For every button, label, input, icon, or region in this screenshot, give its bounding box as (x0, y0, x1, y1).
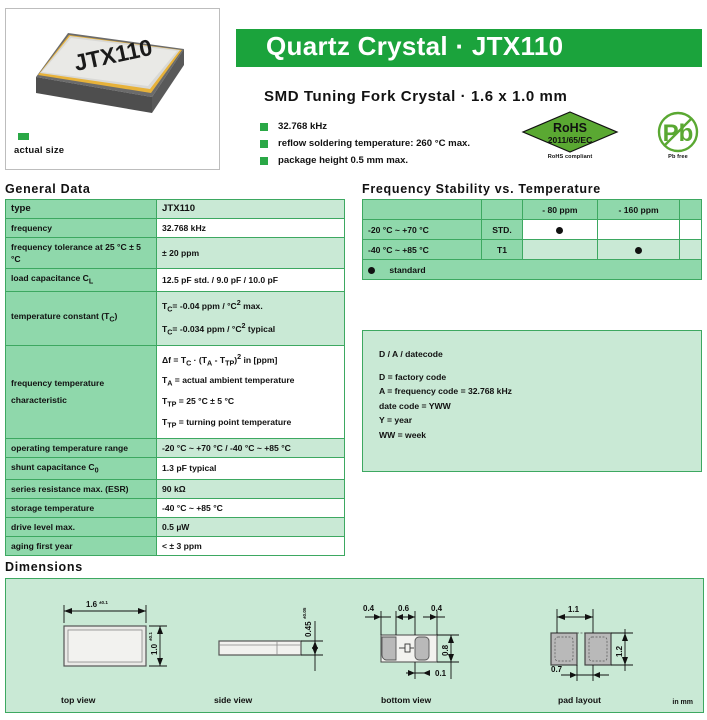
table-row: standard (363, 260, 702, 280)
filled-dot-icon (556, 227, 563, 234)
rohs-caption: RoHS compliant (520, 154, 620, 160)
dimensions-panel: 1.6 ±0.1 1.0 ±0.1 top view 0.45 ±0.05 si… (5, 578, 704, 713)
row-label: shunt capacitance C0 (6, 457, 157, 480)
bottom-pad-right: 0.4 (431, 604, 443, 613)
bullet-square-icon (260, 123, 268, 131)
top-view-height: 1.0 (150, 643, 159, 655)
actual-size-swatch (18, 133, 29, 140)
option-mark (523, 240, 598, 260)
marking-line: Y = year (379, 413, 701, 428)
bullet-square-icon (260, 157, 268, 165)
pb-free-caption: Pb free (655, 154, 701, 160)
column-header: - 160 ppm (597, 200, 680, 220)
table-row: temperature constant (TC) TC= -0.04 ppm … (6, 291, 345, 345)
option-mark (597, 240, 680, 260)
actual-size-caption: actual size (14, 145, 64, 156)
marking-code-box: D / A / datecode D = factory code A = fr… (362, 330, 702, 472)
row-label: load capacitance CL (6, 269, 157, 292)
table-row: frequency 32.768 kHz (6, 219, 345, 238)
table-row: frequency temperature characteristic Δf … (6, 345, 345, 438)
option-mark (597, 220, 680, 240)
header-blank-grade (482, 200, 523, 220)
row-value: 90 kΩ (157, 480, 345, 499)
table-row: -20 °C ~ +70 °C STD. (363, 220, 702, 240)
rohs-directive-text: 2011/65/EC (548, 135, 592, 145)
table-row: -40 °C ~ +85 °C T1 (363, 240, 702, 260)
general-data-table: type JTX110 frequency 32.768 kHz frequen… (5, 199, 345, 556)
marking-line: A = frequency code = 32.768 kHz (379, 384, 701, 399)
header-blank (363, 200, 482, 220)
feature-text: reflow soldering temperature: 260 °C max… (278, 138, 470, 149)
row-value: 0.5 µW (157, 518, 345, 537)
rohs-diamond-icon: RoHS 2011/65/EC (520, 110, 620, 154)
feature-list: 32.768 kHz reflow soldering temperature:… (260, 120, 520, 171)
row-label: series resistance max. (ESR) (6, 480, 157, 499)
bullet-square-icon (260, 140, 268, 148)
rohs-logo: RoHS 2011/65/EC RoHS compliant (520, 110, 620, 166)
table-row: drive level max. 0.5 µW (6, 518, 345, 537)
general-data-heading: General Data (5, 182, 91, 196)
temp-range: -20 °C ~ +70 °C (363, 220, 482, 240)
row-label: storage temperature (6, 499, 157, 518)
product-photo-panel: JTX110 actual size (5, 8, 220, 170)
top-view-width: 1.6 (86, 600, 98, 609)
table-row: frequency tolerance at 25 °C ± 5 °C ± 20… (6, 238, 345, 269)
table-row: shunt capacitance C0 1.3 pF typical (6, 457, 345, 480)
view-caption: bottom view (381, 695, 431, 705)
row-value: -20 °C ~ +70 °C / -40 °C ~ +85 °C (157, 438, 345, 457)
row-label: frequency temperature characteristic (6, 345, 157, 438)
datasheet-page: JTX110 actual size Quartz Crystal · JTX1… (0, 0, 707, 720)
pad-land-width: 0.7 (551, 665, 563, 674)
table-row: storage temperature -40 °C ~ +85 °C (6, 499, 345, 518)
side-view-thickness: 0.45 (304, 621, 313, 637)
marking-pattern: D / A / datecode (379, 347, 701, 362)
row-value: JTX110 (157, 200, 345, 219)
temp-range: -40 °C ~ +85 °C (363, 240, 482, 260)
crystal-package-image: JTX110 (24, 19, 200, 123)
top-view-drawing: 1.6 ±0.1 1.0 ±0.1 (34, 593, 184, 688)
legend-row: standard (363, 260, 702, 280)
row-value: -40 °C ~ +85 °C (157, 499, 345, 518)
pad-pitch: 1.1 (568, 605, 580, 614)
row-value: 32.768 kHz (157, 219, 345, 238)
stability-table: - 80 ppm - 160 ppm -20 °C ~ +70 °C STD. … (362, 199, 702, 280)
pb-free-icon: Pb (655, 110, 701, 154)
column-header (680, 200, 702, 220)
top-view-height-tol: ±0.1 (148, 632, 153, 641)
marking-line: D = factory code (379, 370, 701, 385)
row-value: TC= -0.04 ppm / °C2 max. TC= -0.034 ppm … (157, 291, 345, 345)
row-value: 1.3 pF typical (157, 457, 345, 480)
feature-text: package height 0.5 mm max. (278, 155, 408, 166)
option-mark (523, 220, 598, 240)
rohs-title-text: RoHS (553, 121, 587, 135)
filled-dot-icon (368, 267, 375, 274)
row-value: Δf = TC · (TA - TTP)2 in [ppm] TA = actu… (157, 345, 345, 438)
row-label: drive level max. (6, 518, 157, 537)
grade-code: T1 (482, 240, 523, 260)
option-mark (680, 240, 702, 260)
pad-layout-drawing: 1.1 1.2 0.7 (521, 593, 696, 688)
bottom-pad-height: 0.8 (441, 644, 450, 656)
table-row: type JTX110 (6, 200, 345, 219)
page-title: Quartz Crystal · JTX110 (266, 31, 563, 62)
table-row: series resistance max. (ESR) 90 kΩ (6, 480, 345, 499)
marking-line: date code = YWW (379, 399, 701, 414)
option-mark (680, 220, 702, 240)
row-value: < ± 3 ppm (157, 537, 345, 556)
view-caption: top view (61, 695, 95, 705)
bottom-gap: 0.6 (398, 604, 410, 613)
list-item: package height 0.5 mm max. (260, 154, 520, 168)
row-label: aging first year (6, 537, 157, 556)
row-value: ± 20 ppm (157, 238, 345, 269)
dimensions-heading: Dimensions (5, 560, 83, 574)
table-row: - 80 ppm - 160 ppm (363, 200, 702, 220)
filled-dot-icon (635, 247, 642, 254)
top-view-width-tol: ±0.1 (99, 600, 108, 605)
table-row: load capacitance CL 12.5 pF std. / 9.0 p… (6, 269, 345, 292)
row-label: frequency (6, 219, 157, 238)
feature-text: 32.768 kHz (278, 121, 327, 132)
column-header: - 80 ppm (523, 200, 598, 220)
side-view-thickness-tol: ±0.05 (302, 607, 307, 619)
title-bar: Quartz Crystal · JTX110 (236, 29, 702, 67)
bottom-view-drawing: 0.4 0.6 0.4 0.8 0.1 (351, 593, 516, 688)
row-label: operating temperature range (6, 438, 157, 457)
unit-note: in mm (672, 699, 693, 706)
page-subtitle: SMD Tuning Fork Crystal · 1.6 x 1.0 mm (264, 88, 567, 105)
pb-free-logo: Pb Pb free (655, 110, 701, 166)
table-row: aging first year < ± 3 ppm (6, 537, 345, 556)
row-label: temperature constant (TC) (6, 291, 157, 345)
row-label: frequency tolerance at 25 °C ± 5 °C (6, 238, 157, 269)
pad-land-height: 1.2 (615, 645, 624, 657)
marking-line: WW = week (379, 428, 701, 443)
table-row: operating temperature range -20 °C ~ +70… (6, 438, 345, 457)
row-value: 12.5 pF std. / 9.0 pF / 10.0 pF (157, 269, 345, 292)
side-view-drawing: 0.45 ±0.05 (201, 593, 351, 688)
view-caption: side view (214, 695, 252, 705)
grade-code: STD. (482, 220, 523, 240)
row-label: type (6, 200, 157, 219)
bottom-pad-left: 0.4 (363, 604, 375, 613)
list-item: reflow soldering temperature: 260 °C max… (260, 137, 520, 151)
list-item: 32.768 kHz (260, 120, 520, 134)
bottom-slot: 0.1 (435, 669, 447, 678)
stability-heading: Frequency Stability vs. Temperature (362, 182, 601, 196)
legend-label: standard (389, 265, 425, 275)
view-caption: pad layout (558, 695, 601, 705)
